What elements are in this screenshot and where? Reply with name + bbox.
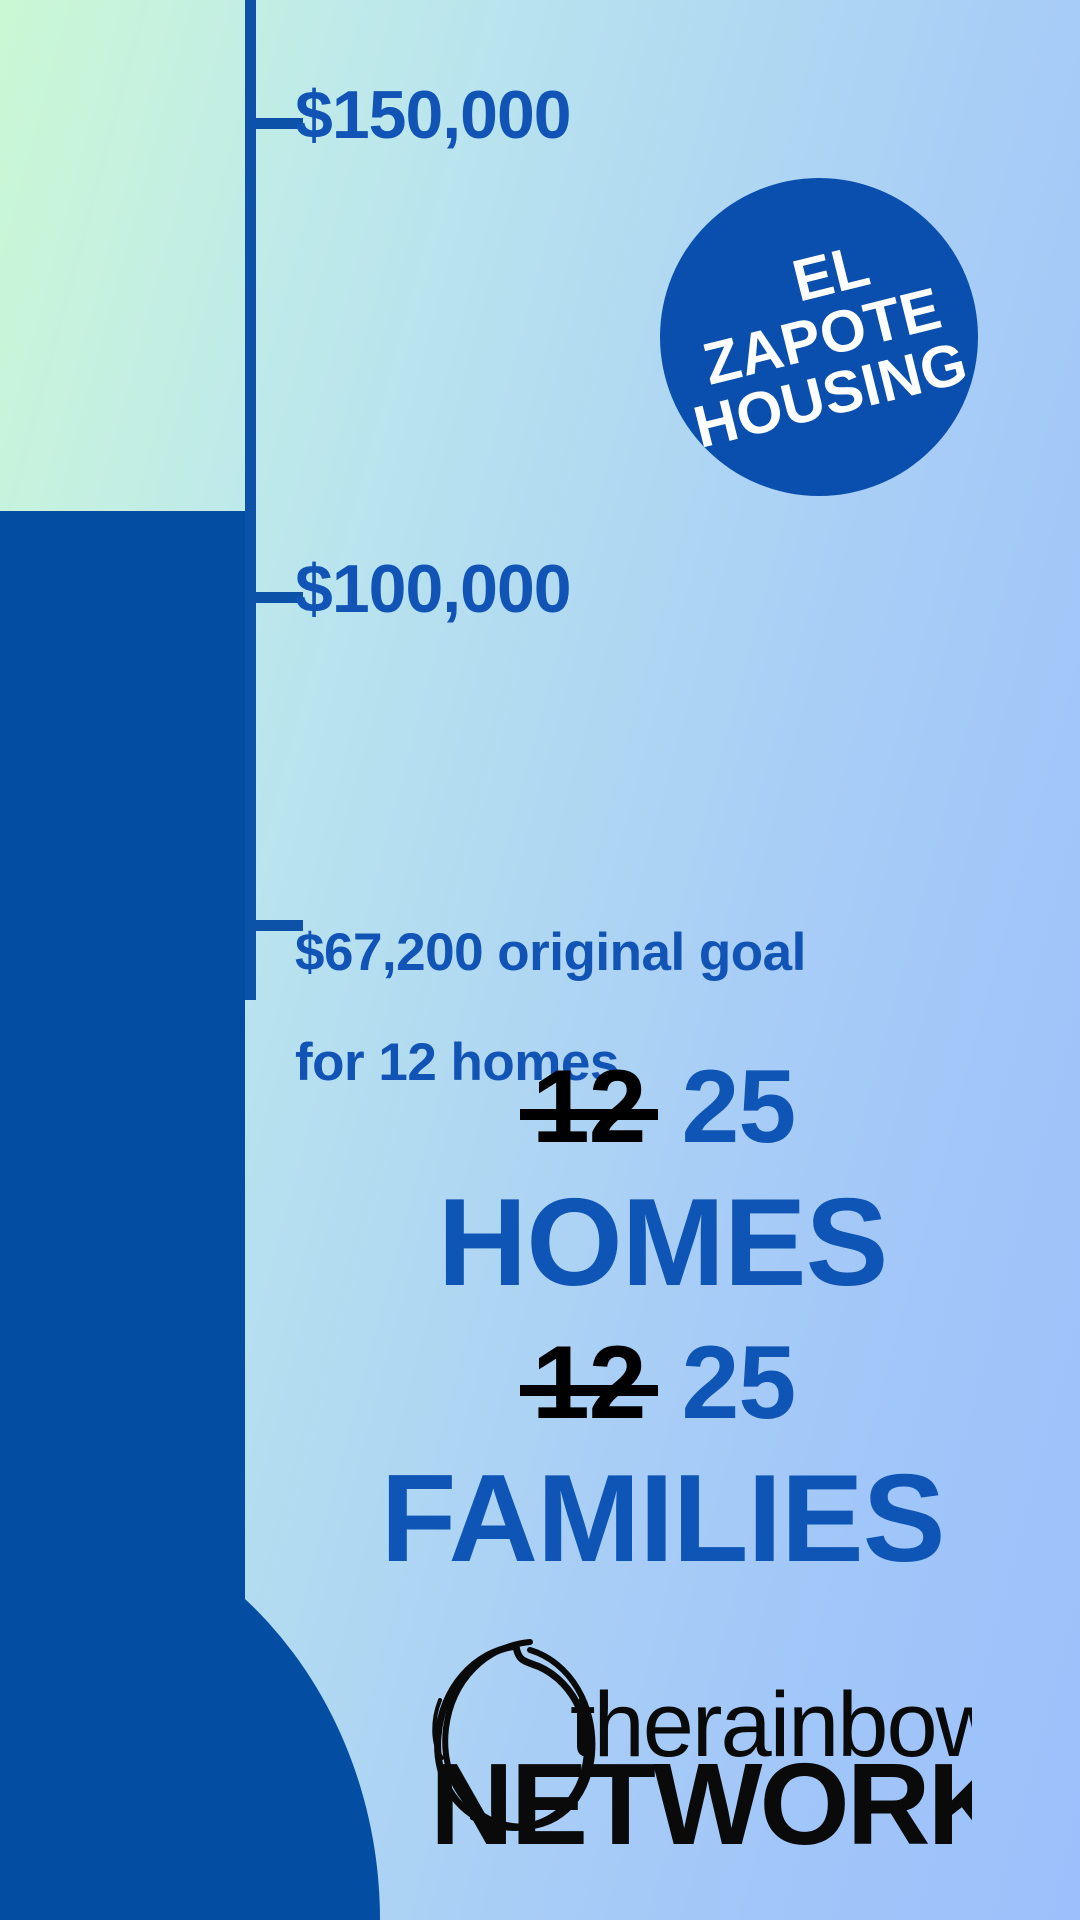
axis-label-goal-line1: $67,200 original goal	[295, 925, 806, 980]
rainbow-network-logo: therainbow NETWORK	[412, 1632, 972, 1862]
families-label: FAMILIES	[245, 1457, 1080, 1581]
headline-stats: 1225 HOMES 1225 FAMILIES	[245, 1055, 1080, 1581]
families-count-row: 1225	[245, 1331, 1080, 1435]
el-zapote-housing-badge: EL ZAPOTE HOUSING	[660, 178, 978, 496]
families-new-count: 25	[682, 1325, 796, 1441]
badge-text: EL ZAPOTE HOUSING	[665, 218, 973, 456]
homes-count-row: 1225	[245, 1055, 1080, 1159]
homes-old-count: 12	[530, 1055, 648, 1159]
axis-label-150k: $150,000	[295, 80, 571, 151]
homes-label: HOMES	[245, 1181, 1080, 1305]
families-old-count: 12	[530, 1331, 648, 1435]
logo-wordmark-bold: NETWORK	[430, 1739, 972, 1862]
homes-new-count: 25	[682, 1049, 796, 1165]
infographic-poster: $150,000 $100,000 $67,200 original goal …	[0, 0, 1080, 1920]
axis-label-100k: $100,000	[295, 554, 571, 625]
chart-axis-line	[245, 0, 256, 1000]
